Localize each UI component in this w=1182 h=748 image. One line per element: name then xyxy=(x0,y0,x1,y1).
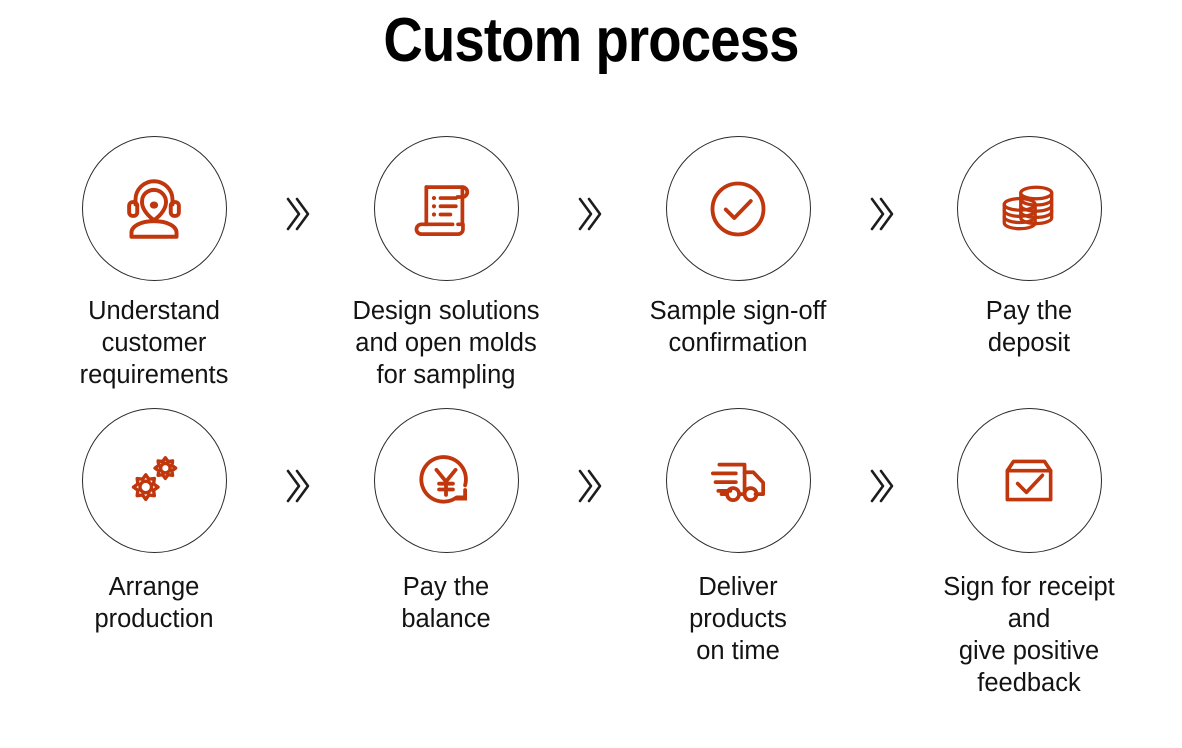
process-step-3[interactable]: Sample sign-off confirmation xyxy=(613,120,863,359)
package-check-icon xyxy=(996,448,1062,514)
step-5-label: Arrange production xyxy=(29,571,279,635)
double-chevron-right-icon xyxy=(576,466,602,506)
page-title: Custom process xyxy=(71,2,1111,80)
check-circle-icon xyxy=(704,175,772,243)
step-separator-5 xyxy=(566,460,612,512)
double-chevron-right-icon xyxy=(868,194,894,234)
process-step-5[interactable]: Arrange production xyxy=(29,392,279,635)
double-chevron-right-icon xyxy=(868,466,894,506)
step-8-label: Sign for receipt and give positive feedb… xyxy=(904,571,1154,699)
step-6-label: Pay the balance xyxy=(321,571,571,635)
double-chevron-right-icon xyxy=(576,194,602,234)
process-row-1: Understand customer requirements xyxy=(0,120,1182,392)
step-4-icon-circle xyxy=(957,136,1102,281)
step-8-icon-circle xyxy=(957,408,1102,553)
delivery-truck-icon xyxy=(703,446,773,516)
step-7-icon-circle xyxy=(666,408,811,553)
coin-stack-icon xyxy=(996,176,1062,242)
step-separator-6 xyxy=(858,460,904,512)
step-4-label: Pay the deposit xyxy=(904,295,1154,359)
process-step-7[interactable]: Deliver products on time xyxy=(613,392,863,667)
yen-refund-circle-icon xyxy=(412,447,480,515)
step-2-icon-circle xyxy=(374,136,519,281)
step-separator-4 xyxy=(274,460,320,512)
step-3-label: Sample sign-off confirmation xyxy=(613,295,863,359)
step-1-icon-circle xyxy=(82,136,227,281)
process-step-4[interactable]: Pay the deposit xyxy=(904,120,1154,359)
process-row-2: Arrange production xyxy=(0,392,1182,664)
step-separator-1 xyxy=(274,188,320,240)
step-7-label: Deliver products on time xyxy=(613,571,863,667)
process-step-1[interactable]: Understand customer requirements xyxy=(29,120,279,391)
step-separator-2 xyxy=(566,188,612,240)
gears-icon xyxy=(121,448,187,514)
double-chevron-right-icon xyxy=(284,466,310,506)
process-step-8[interactable]: Sign for receipt and give positive feedb… xyxy=(904,392,1154,699)
double-chevron-right-icon xyxy=(284,194,310,234)
step-2-label: Design solutions and open molds for samp… xyxy=(321,295,571,391)
custom-process-infographic: Custom process Understand customer requi… xyxy=(0,0,1182,748)
step-6-icon-circle xyxy=(374,408,519,553)
step-1-label: Understand customer requirements xyxy=(29,295,279,391)
scroll-document-list-icon xyxy=(411,174,481,244)
headset-support-agent-icon xyxy=(117,172,191,246)
step-3-icon-circle xyxy=(666,136,811,281)
process-step-6[interactable]: Pay the balance xyxy=(321,392,571,635)
step-separator-3 xyxy=(858,188,904,240)
process-step-2[interactable]: Design solutions and open molds for samp… xyxy=(321,120,571,391)
step-5-icon-circle xyxy=(82,408,227,553)
process-steps-grid: Understand customer requirements xyxy=(0,120,1182,664)
